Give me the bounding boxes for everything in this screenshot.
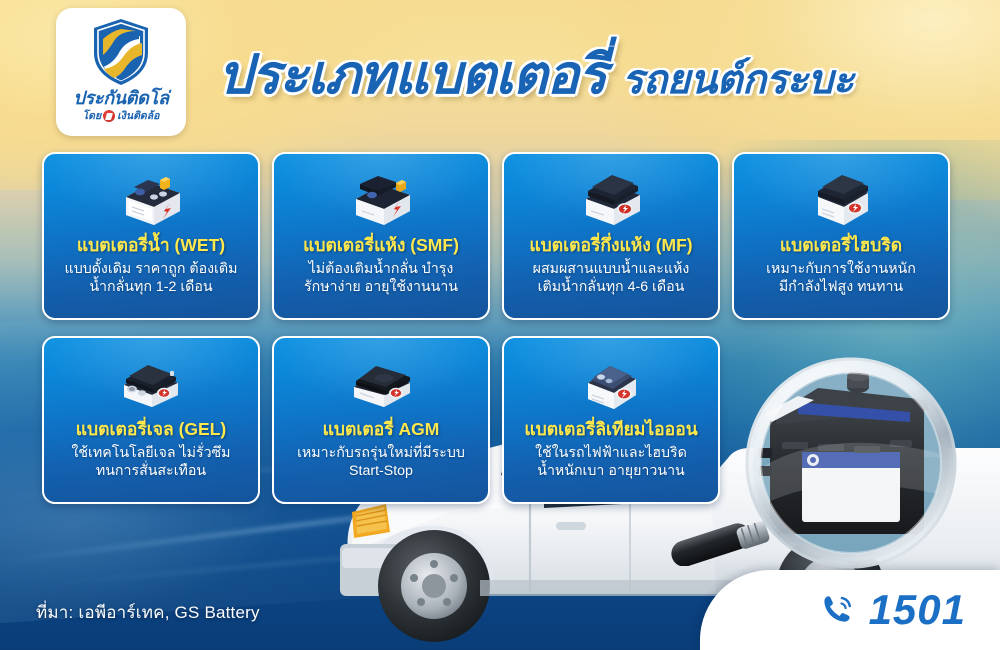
card-row-2: แบตเตอรี่เจล (GEL) ใช้เทคโนโลยีเจล ไม่รั… — [42, 336, 962, 504]
card-desc-line2: น้ำหนักเบา อายุยาวนาน — [537, 463, 684, 479]
mf-battery-icon — [574, 167, 648, 229]
brand-name: ประกันติดโล่ — [73, 89, 168, 107]
card-desc-line1: เหมาะกับรถรุ่นใหม่ที่มีระบบ — [297, 445, 465, 461]
brand-partner-name: เงินติดล้อ — [117, 111, 159, 122]
card-desc: เหมาะกับการใช้งานหนัก มีกำลังไฟสูง ทนทาน — [758, 260, 924, 296]
shield-icon — [90, 17, 152, 87]
card-desc-line2: รักษาง่าย อายุใช้งานนาน — [304, 279, 458, 295]
card-gel-battery[interactable]: แบตเตอรี่เจล (GEL) ใช้เทคโนโลยีเจล ไม่รั… — [42, 336, 260, 504]
card-desc: แบบดั้งเดิม ราคาถูก ต้องเติม น้ำกลั่นทุก… — [57, 260, 246, 296]
card-title: แบตเตอรี่แห้ง (SMF) — [299, 235, 463, 255]
card-desc-line2: ทนการสั่นสะเทือน — [96, 463, 206, 479]
phone-number: 1501 — [869, 589, 966, 631]
battery-type-grid: แบตเตอรี่น้ำ (WET) แบบดั้งเดิม ราคาถูก ต… — [42, 152, 962, 504]
page-title: ประเภทแบตเตอรี่ รถยนต์กระบะ — [218, 48, 854, 102]
phone-call-icon — [821, 593, 855, 627]
brand-partner-line: โดย เงินติดล้อ — [83, 110, 160, 122]
card-mf-battery[interactable]: แบตเตอรี่กึ่งแห้ง (MF) ผสมผสานแบบน้ำและแ… — [502, 152, 720, 320]
card-title: แบตเตอรี่ไฮบริด — [776, 235, 906, 255]
contact-phone-badge[interactable]: 1501 — [700, 570, 1000, 650]
card-desc-line1: เหมาะกับการใช้งานหนัก — [766, 261, 916, 277]
card-desc-line1: ไม่ต้องเติมน้ำกลั่น บำรุง — [309, 261, 454, 277]
hybrid-battery-icon — [804, 167, 878, 229]
card-desc: ไม่ต้องเติมน้ำกลั่น บำรุง รักษาง่าย อายุ… — [296, 260, 466, 296]
smf-battery-icon — [344, 167, 418, 229]
agm-battery-icon — [344, 351, 418, 413]
gel-battery-icon — [114, 351, 188, 413]
card-desc: ใช้ในรถไฟฟ้าและไฮบริด น้ำหนักเบา อายุยาว… — [527, 444, 695, 480]
card-title: แบตเตอรี่กึ่งแห้ง (MF) — [525, 235, 696, 255]
title-main: ประเภทแบตเตอรี่ — [218, 48, 606, 102]
lithium-battery-icon — [574, 351, 648, 413]
card-title: แบตเตอรี่ AGM — [319, 419, 444, 439]
card-hybrid-battery[interactable]: แบตเตอรี่ไฮบริด เหมาะกับการใช้งานหนัก มี… — [732, 152, 950, 320]
card-wet-battery[interactable]: แบตเตอรี่น้ำ (WET) แบบดั้งเดิม ราคาถูก ต… — [42, 152, 260, 320]
card-title: แบตเตอรี่น้ำ (WET) — [73, 235, 229, 255]
infographic-canvas: ประกันติดโล่ โดย เงินติดล้อ ประเภทแบตเตอ… — [0, 0, 1000, 650]
card-title: แบตเตอรี่เจล (GEL) — [72, 419, 230, 439]
card-desc: เหมาะกับรถรุ่นใหม่ที่มีระบบ Start-Stop — [289, 444, 473, 480]
brand-logo[interactable]: ประกันติดโล่ โดย เงินติดล้อ — [56, 8, 186, 136]
source-credit: ที่มา: เอพีอาร์เทค, GS Battery — [36, 599, 260, 626]
title-sub: รถยนต์กระบะ — [622, 60, 854, 100]
card-desc-line2: Start-Stop — [349, 463, 413, 479]
card-lithium-battery[interactable]: แบตเตอรี่ลิเทียมไอออน ใช้ในรถไฟฟ้าและไฮบ… — [502, 336, 720, 504]
card-desc-line2: น้ำกลั่นทุก 1-2 เดือน — [89, 279, 212, 295]
card-desc-line1: ใช้เทคโนโลยีเจล ไม่รั่วซึม — [71, 445, 230, 461]
card-row-1: แบตเตอรี่น้ำ (WET) แบบดั้งเดิม ราคาถูก ต… — [42, 152, 962, 320]
brand-by-label: โดย — [83, 111, 102, 122]
card-smf-battery[interactable]: แบตเตอรี่แห้ง (SMF) ไม่ต้องเติมน้ำกลั่น … — [272, 152, 490, 320]
partner-mark-icon — [103, 110, 115, 122]
card-desc-line1: ใช้ในรถไฟฟ้าและไฮบริด — [535, 445, 687, 461]
card-agm-battery[interactable]: แบตเตอรี่ AGM เหมาะกับรถรุ่นใหม่ที่มีระบ… — [272, 336, 490, 504]
card-title: แบตเตอรี่ลิเทียมไอออน — [520, 419, 701, 439]
card-desc-line1: ผสมผสานแบบน้ำและแห้ง — [533, 261, 690, 277]
wet-battery-icon — [114, 167, 188, 229]
card-desc: ผสมผสานแบบน้ำและแห้ง เติมน้ำกลั่นทุก 4-6… — [525, 260, 698, 296]
card-desc-line1: แบบดั้งเดิม ราคาถูก ต้องเติม — [65, 261, 238, 277]
card-desc: ใช้เทคโนโลยีเจล ไม่รั่วซึม ทนการสั่นสะเท… — [63, 444, 238, 480]
card-desc-line2: เติมน้ำกลั่นทุก 4-6 เดือน — [538, 279, 685, 295]
card-desc-line2: มีกำลังไฟสูง ทนทาน — [779, 279, 903, 295]
